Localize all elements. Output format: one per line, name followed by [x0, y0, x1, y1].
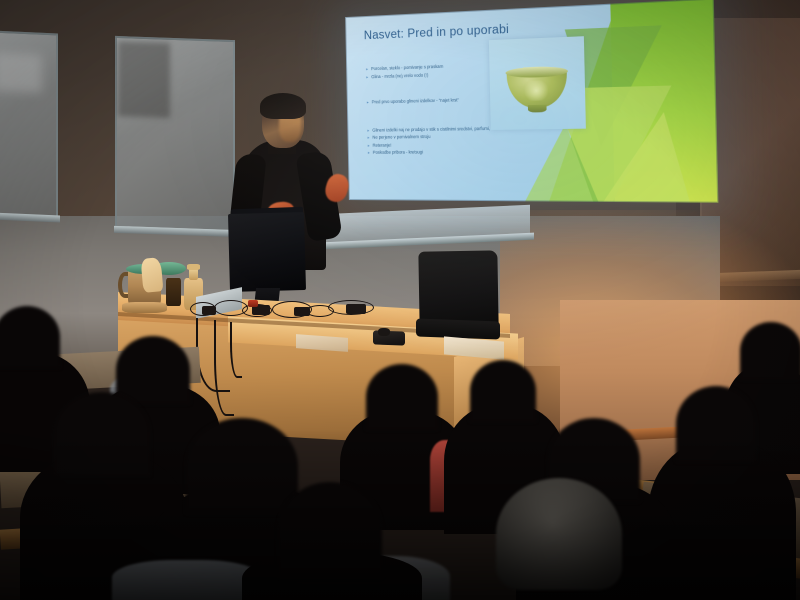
bullet-text: Pred prvo uporabo glineni izdelkov - "na… [372, 97, 459, 107]
bullet-marker-icon: ▸ [366, 66, 368, 74]
attendee-head [116, 336, 190, 404]
attendee-head [470, 360, 536, 422]
plastic-bottle-cap [187, 264, 200, 270]
attendee-head [740, 322, 800, 380]
whiteboard-glare [0, 53, 42, 93]
bowl-decoration [522, 80, 551, 101]
camera-lens [378, 328, 390, 336]
slide-bullet: ▸ Poskodbe pribora - kretsugi [368, 147, 583, 156]
projection-screen: Nasvet: Pred in po uporabi ▸ Porcelan, s… [345, 0, 718, 203]
bullet-text: Glina - mrzla (ne) vrelo vodo (!) [371, 71, 428, 80]
attendee-collar [112, 560, 262, 600]
attendee-head [54, 392, 150, 476]
gray-haired-attendee [496, 478, 622, 590]
attendee-head [278, 482, 382, 578]
whiteboard-shadow [118, 41, 170, 118]
whiteboard-left [0, 31, 58, 219]
presenter-hair [260, 93, 306, 119]
bullet-marker-icon: ▸ [366, 73, 368, 80]
bullet-text: Poskodbe pribora - kretsugi [373, 149, 423, 157]
attendee-head [0, 306, 60, 368]
slide-polygon-6 [597, 111, 692, 203]
computer-monitor [228, 212, 306, 292]
cable-plug [346, 304, 366, 314]
bullet-text: Reteranje! [373, 141, 392, 149]
bowl-foot [528, 105, 547, 113]
attendee-head [186, 418, 298, 514]
dark-jar [166, 278, 181, 306]
cable-plug [202, 306, 216, 315]
hanging-cable [230, 322, 242, 378]
attendee-head [676, 386, 756, 462]
lecture-hall-photo: Nasvet: Pred in po uporabi ▸ Porcelan, s… [0, 0, 800, 600]
cable-plug [294, 307, 310, 316]
red-cable-plug [248, 300, 258, 307]
presentation-slide: Nasvet: Pred in po uporabi ▸ Porcelan, s… [345, 0, 718, 203]
slide-title: Nasvet: Pred in po uporabi [364, 23, 509, 42]
office-chair [418, 250, 498, 327]
attendee-head [366, 364, 438, 430]
bullet-marker-icon: ▸ [367, 126, 369, 133]
ceramic-jug-base [122, 302, 167, 313]
slide-bowl-image [489, 37, 586, 131]
bullet-marker-icon: ▸ [368, 142, 370, 149]
office-chair-seat [416, 319, 500, 340]
bullet-marker-icon: ▸ [367, 134, 369, 141]
bullet-marker-icon: ▸ [367, 99, 369, 106]
bullet-marker-icon: ▸ [368, 149, 370, 156]
